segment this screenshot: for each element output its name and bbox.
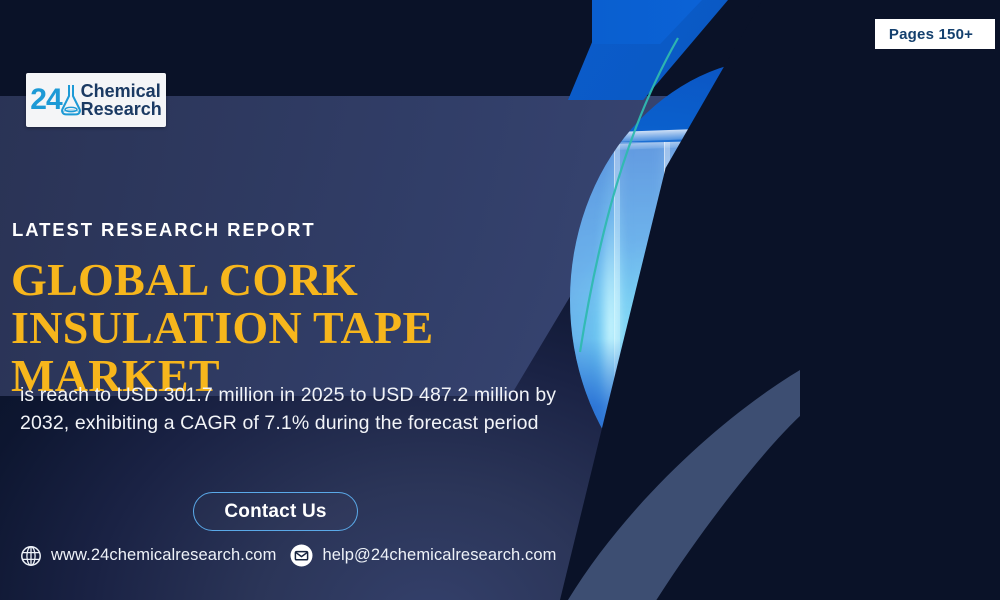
footer-email[interactable]: help@24chemicalresearch.com bbox=[290, 544, 556, 567]
pages-badge: Pages 150+ bbox=[875, 19, 995, 49]
market-description: is reach to USD 301.7 million in 2025 to… bbox=[20, 381, 590, 437]
logo-number: 24 bbox=[30, 85, 61, 115]
footer-contact-bar: www.24chemicalresearch.com help@24chemic… bbox=[20, 544, 557, 567]
flask-icon bbox=[60, 83, 82, 117]
contact-us-button[interactable]: Contact Us bbox=[193, 492, 358, 531]
dark-wedge-decoration bbox=[560, 0, 1000, 600]
page-title: GLOBAL CORK INSULATION TAPE MARKET bbox=[11, 256, 611, 400]
envelope-icon bbox=[290, 544, 313, 567]
pages-badge-label: Pages 150+ bbox=[889, 26, 973, 43]
footer-website[interactable]: www.24chemicalresearch.com bbox=[20, 545, 276, 567]
logo-word-research: Research bbox=[81, 100, 162, 118]
eyebrow-label: LATEST RESEARCH REPORT bbox=[12, 219, 316, 241]
blue-parallelogram-decoration-back bbox=[568, 0, 728, 100]
website-text: www.24chemicalresearch.com bbox=[51, 546, 276, 565]
brand-logo[interactable]: 24 Chemical Research bbox=[26, 73, 166, 127]
blue-parallelogram-decoration bbox=[592, 0, 702, 44]
contact-us-label: Contact Us bbox=[224, 501, 326, 523]
globe-icon bbox=[20, 545, 42, 567]
promo-banner: 24 Chemical Research Pages 150+ LATEST R… bbox=[0, 0, 1000, 600]
hero-graphic-circle bbox=[570, 58, 990, 542]
email-text: help@24chemicalresearch.com bbox=[322, 546, 556, 565]
logo-word-chemical: Chemical bbox=[81, 82, 162, 100]
